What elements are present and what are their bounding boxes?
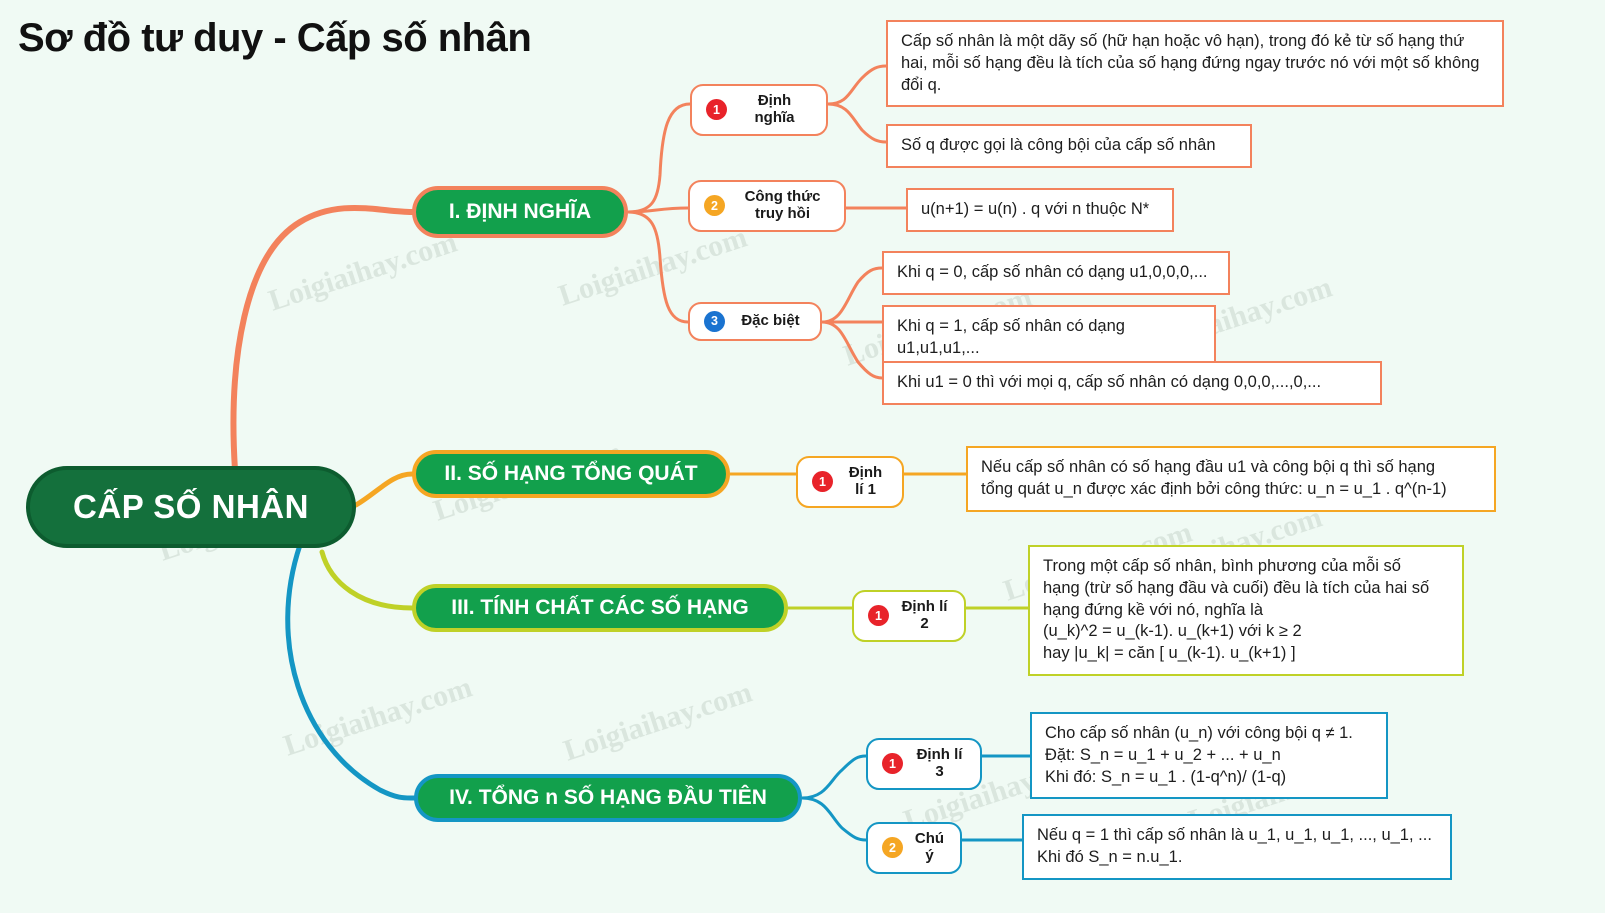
subnode-dinh-nghia[interactable]: 1 Định nghĩa xyxy=(690,84,828,136)
subnode-label: Định nghĩa xyxy=(737,93,812,127)
subnode-cong-thuc-truy-hoi[interactable]: 2 Công thức truy hồi xyxy=(688,180,846,232)
branch-node-i[interactable]: I. ĐỊNH NGHĨA xyxy=(412,186,628,238)
branch-node-iii[interactable]: III. TÍNH CHẤT CÁC SỐ HẠNG xyxy=(412,584,788,632)
branch-node-ii[interactable]: II. SỐ HẠNG TỔNG QUÁT xyxy=(412,450,730,498)
note-chu-y: Nếu q = 1 thì cấp số nhân là u_1, u_1, u… xyxy=(1022,814,1452,880)
branch-label-iii: III. TÍNH CHẤT CÁC SỐ HẠNG xyxy=(451,596,749,620)
page-title: Sơ đồ tư duy - Cấp số nhân xyxy=(18,16,531,61)
mindmap-canvas: Loigiaihay.com Loigiaihay.com Loigiaihay… xyxy=(0,0,1605,913)
branch-label-ii: II. SỐ HẠNG TỔNG QUÁT xyxy=(444,462,697,486)
subnode-label: Định lí 1 xyxy=(843,465,888,499)
watermark: Loigiaihay.com xyxy=(265,226,462,319)
note-dinh-li-2: Trong một cấp số nhân, bình phương của m… xyxy=(1028,545,1464,676)
subnode-dinh-li-1[interactable]: 1 Định lí 1 xyxy=(796,456,904,508)
subnode-chu-y[interactable]: 2 Chú ý xyxy=(866,822,962,874)
badge-icon: 1 xyxy=(706,99,727,120)
note-dinh-nghia-2: Số q được gọi là công bội của cấp số nhâ… xyxy=(886,124,1252,168)
subnode-label: Định lí 3 xyxy=(913,747,966,781)
branch-label-iv: IV. TỔNG n SỐ HẠNG ĐẦU TIÊN xyxy=(449,786,767,810)
note-dac-biet-3: Khi u1 = 0 thì với mọi q, cấp số nhân có… xyxy=(882,361,1382,405)
note-dinh-nghia-1: Cấp số nhân là một dãy số (hữ hạn hoặc v… xyxy=(886,20,1504,107)
note-dinh-li-3: Cho cấp số nhân (u_n) với công bội q ≠ 1… xyxy=(1030,712,1388,799)
subnode-label: Chú ý xyxy=(913,831,946,865)
subnode-label: Định lí 2 xyxy=(899,599,950,633)
subnode-dinh-li-2[interactable]: 1 Định lí 2 xyxy=(852,590,966,642)
badge-icon: 2 xyxy=(704,195,725,216)
note-dac-biet-1: Khi q = 0, cấp số nhân có dạng u1,0,0,0,… xyxy=(882,251,1230,295)
root-node[interactable]: CẤP SỐ NHÂN xyxy=(26,466,356,548)
badge-icon: 1 xyxy=(882,753,903,774)
subnode-label: Công thức truy hồi xyxy=(735,189,830,223)
watermark: Loigiaihay.com xyxy=(560,676,757,769)
note-cong-thuc-truy-hoi: u(n+1) = u(n) . q với n thuộc N* xyxy=(906,188,1174,232)
subnode-dac-biet[interactable]: 3 Đặc biệt xyxy=(688,302,822,341)
badge-icon: 1 xyxy=(812,471,833,492)
badge-icon: 1 xyxy=(868,605,889,626)
badge-icon: 3 xyxy=(704,311,725,332)
note-dinh-li-1: Nếu cấp số nhân có số hạng đầu u1 và côn… xyxy=(966,446,1496,512)
branch-label-i: I. ĐỊNH NGHĨA xyxy=(449,200,591,224)
watermark: Loigiaihay.com xyxy=(280,671,477,764)
branch-node-iv[interactable]: IV. TỔNG n SỐ HẠNG ĐẦU TIÊN xyxy=(414,774,802,822)
badge-icon: 2 xyxy=(882,837,903,858)
subnode-dinh-li-3[interactable]: 1 Định lí 3 xyxy=(866,738,982,790)
subnode-label: Đặc biệt xyxy=(735,313,806,330)
root-node-label: CẤP SỐ NHÂN xyxy=(73,488,309,526)
